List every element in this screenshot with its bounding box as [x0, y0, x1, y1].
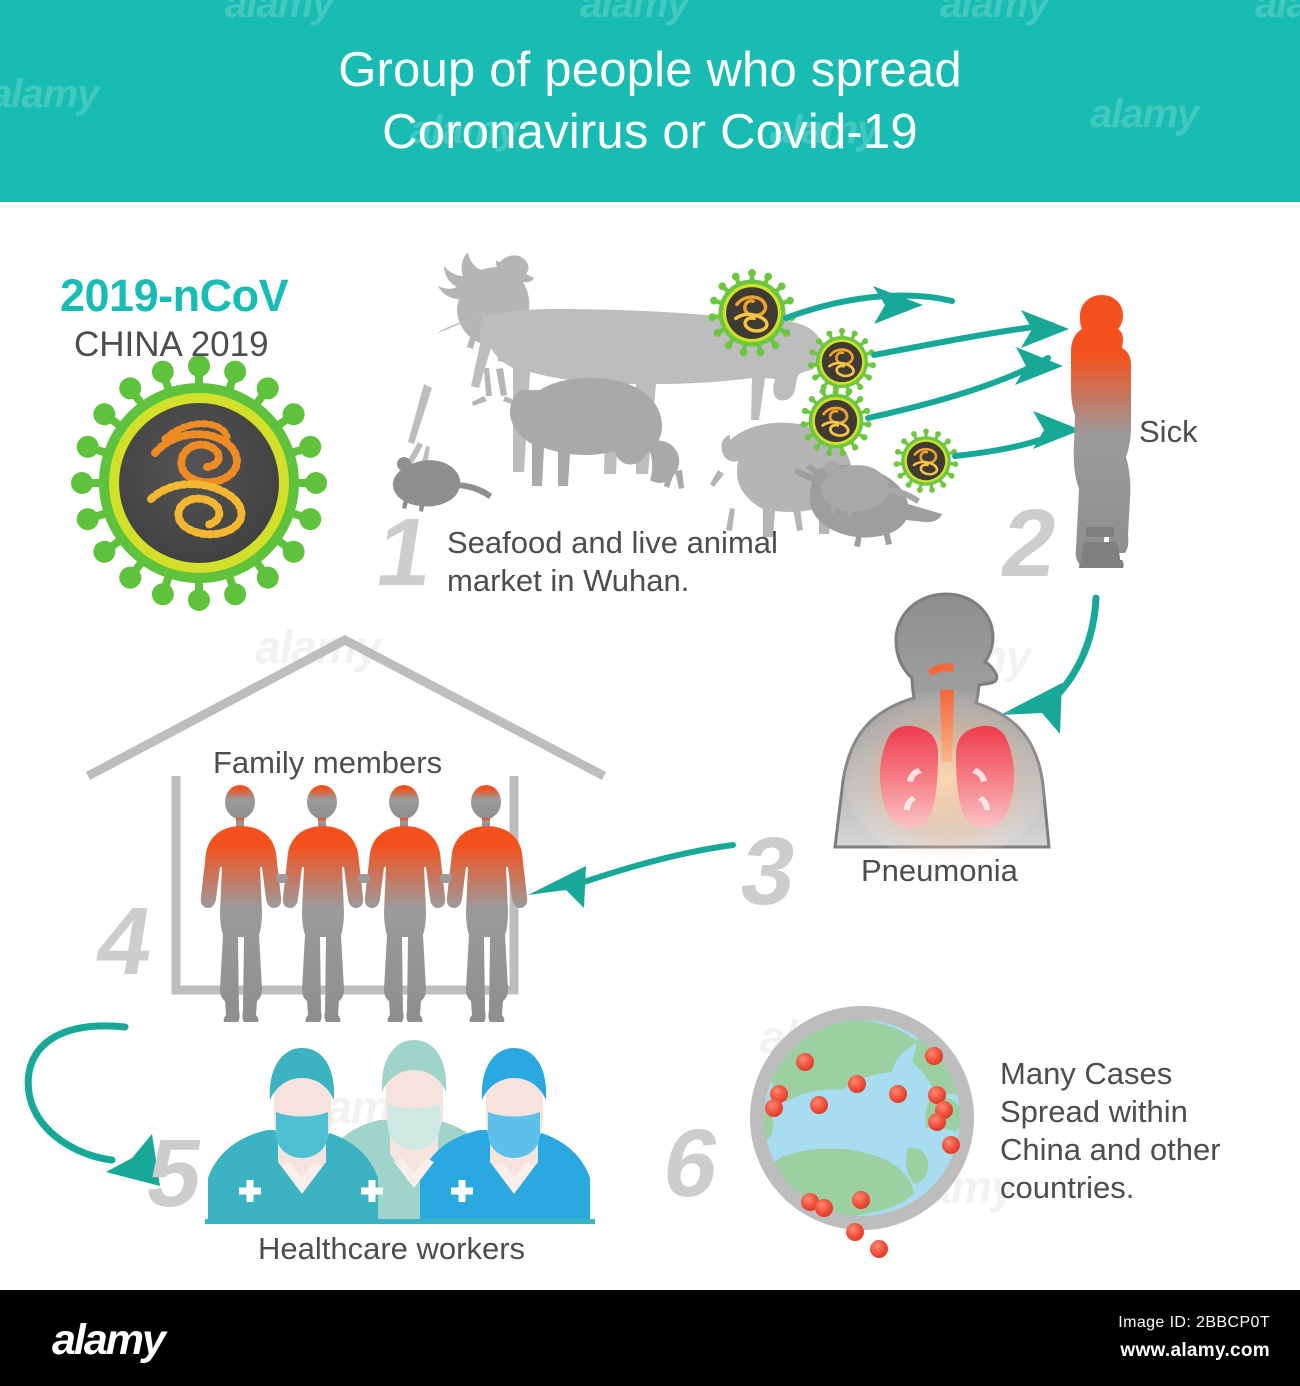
- sick-label: Sick: [1139, 414, 1198, 450]
- alamy-logo: alamy: [52, 1316, 164, 1365]
- footer-bar: alamy Image ID: 2BBCP0T www.alamy.com: [0, 1290, 1300, 1386]
- step6-caption-line4: countries.: [1000, 1169, 1262, 1207]
- image-id-label: Image ID: 2BBCP0T: [1118, 1314, 1270, 1332]
- family-members-label: Family members: [213, 745, 442, 781]
- step6-caption: Many Cases Spread within China and other…: [1000, 1055, 1262, 1207]
- step6-caption-line3: China and other: [1000, 1131, 1262, 1169]
- virus-name-label: 2019-nCoV: [60, 270, 288, 322]
- step6-caption-line2: Spread within: [1000, 1093, 1262, 1131]
- pneumonia-label: Pneumonia: [861, 853, 1018, 889]
- step6-caption-line1: Many Cases: [1000, 1055, 1262, 1093]
- infographic-canvas: alamy alamy alamy alamy alamy alamy alam…: [0, 0, 1300, 1386]
- healthcare-workers-label: Healthcare workers: [258, 1231, 525, 1267]
- step1-caption: Seafood and live animal market in Wuhan.: [447, 524, 847, 600]
- step1-caption-line1: Seafood and live animal: [447, 524, 847, 562]
- alamy-url-label: www.alamy.com: [1120, 1340, 1270, 1362]
- step1-caption-line2: market in Wuhan.: [447, 562, 847, 600]
- virus-origin-label: CHINA 2019: [74, 325, 269, 365]
